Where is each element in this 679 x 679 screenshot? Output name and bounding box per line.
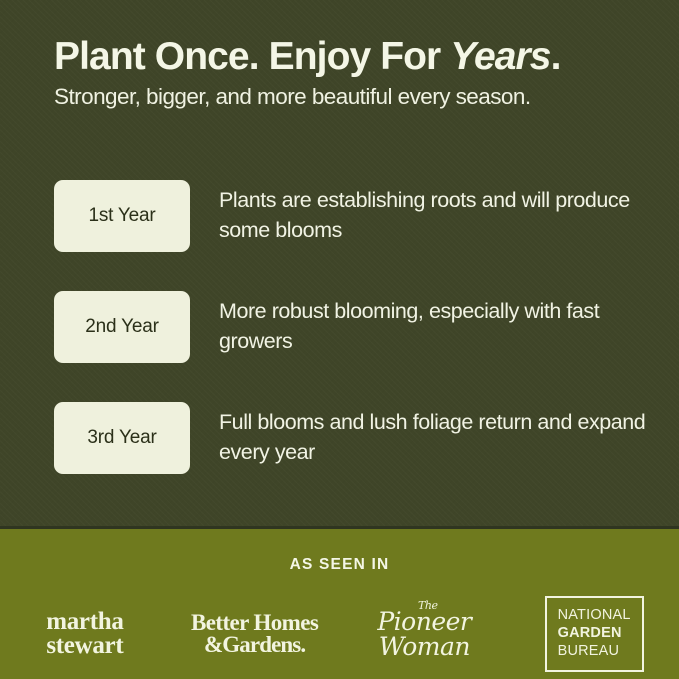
bhg-line2: &Gardens. [191,634,318,656]
as-seen-in-band: AS SEEN IN martha stewart Better Homes &… [0,529,679,679]
pioneer-woman-main: Pioneer Woman [377,607,471,661]
growth-timeline-list: 1st Year Plants are establishing roots a… [54,180,659,474]
year-description: Full blooms and lush foliage return and … [219,408,649,467]
timeline-row: 1st Year Plants are establishing roots a… [54,180,659,252]
martha-stewart-line2: stewart [46,632,123,659]
headline-emphasis-years: Years [450,35,550,78]
promo-infographic: Plant Once. Enjoy For Years. Stronger, b… [0,0,679,679]
year-chip-3rd: 3rd Year [54,402,190,474]
year-description: More robust blooming, especially with fa… [219,297,649,356]
bhg-line1: Better Homes [191,610,318,635]
ngb-line2: GARDEN [558,625,631,643]
logo-the-pioneer-woman: The Pioneer Woman [340,591,510,677]
year-chip-1st: 1st Year [54,180,190,252]
ngb-line1: NATIONAL [558,607,631,625]
year-description: Plants are establishing roots and will p… [219,186,649,245]
headline-text-trailing: . [551,35,561,78]
press-logo-row: martha stewart Better Homes &Gardens. Th… [0,591,679,677]
ngb-line3: BUREAU [558,643,631,661]
as-seen-in-heading: AS SEEN IN [0,529,679,574]
year-chip-label: 2nd Year [85,316,158,338]
timeline-row: 2nd Year More robust blooming, especiall… [54,291,659,363]
page-subtitle: Stronger, bigger, and more beautiful eve… [54,84,653,110]
year-chip-2nd: 2nd Year [54,291,190,363]
header: Plant Once. Enjoy For Years. Stronger, b… [54,36,653,110]
page-title: Plant Once. Enjoy For Years. [54,36,653,77]
year-chip-label: 3rd Year [87,427,156,449]
logo-national-garden-bureau: NATIONAL GARDEN BUREAU [509,591,679,677]
pioneer-woman-the: The [418,600,437,611]
timeline-row: 3rd Year Full blooms and lush foliage re… [54,402,659,474]
logo-martha-stewart: martha stewart [0,591,170,677]
year-chip-label: 1st Year [88,205,155,227]
logo-better-homes-and-gardens: Better Homes &Gardens. [170,591,340,677]
headline-text-leading: Plant Once. Enjoy For [54,35,450,78]
